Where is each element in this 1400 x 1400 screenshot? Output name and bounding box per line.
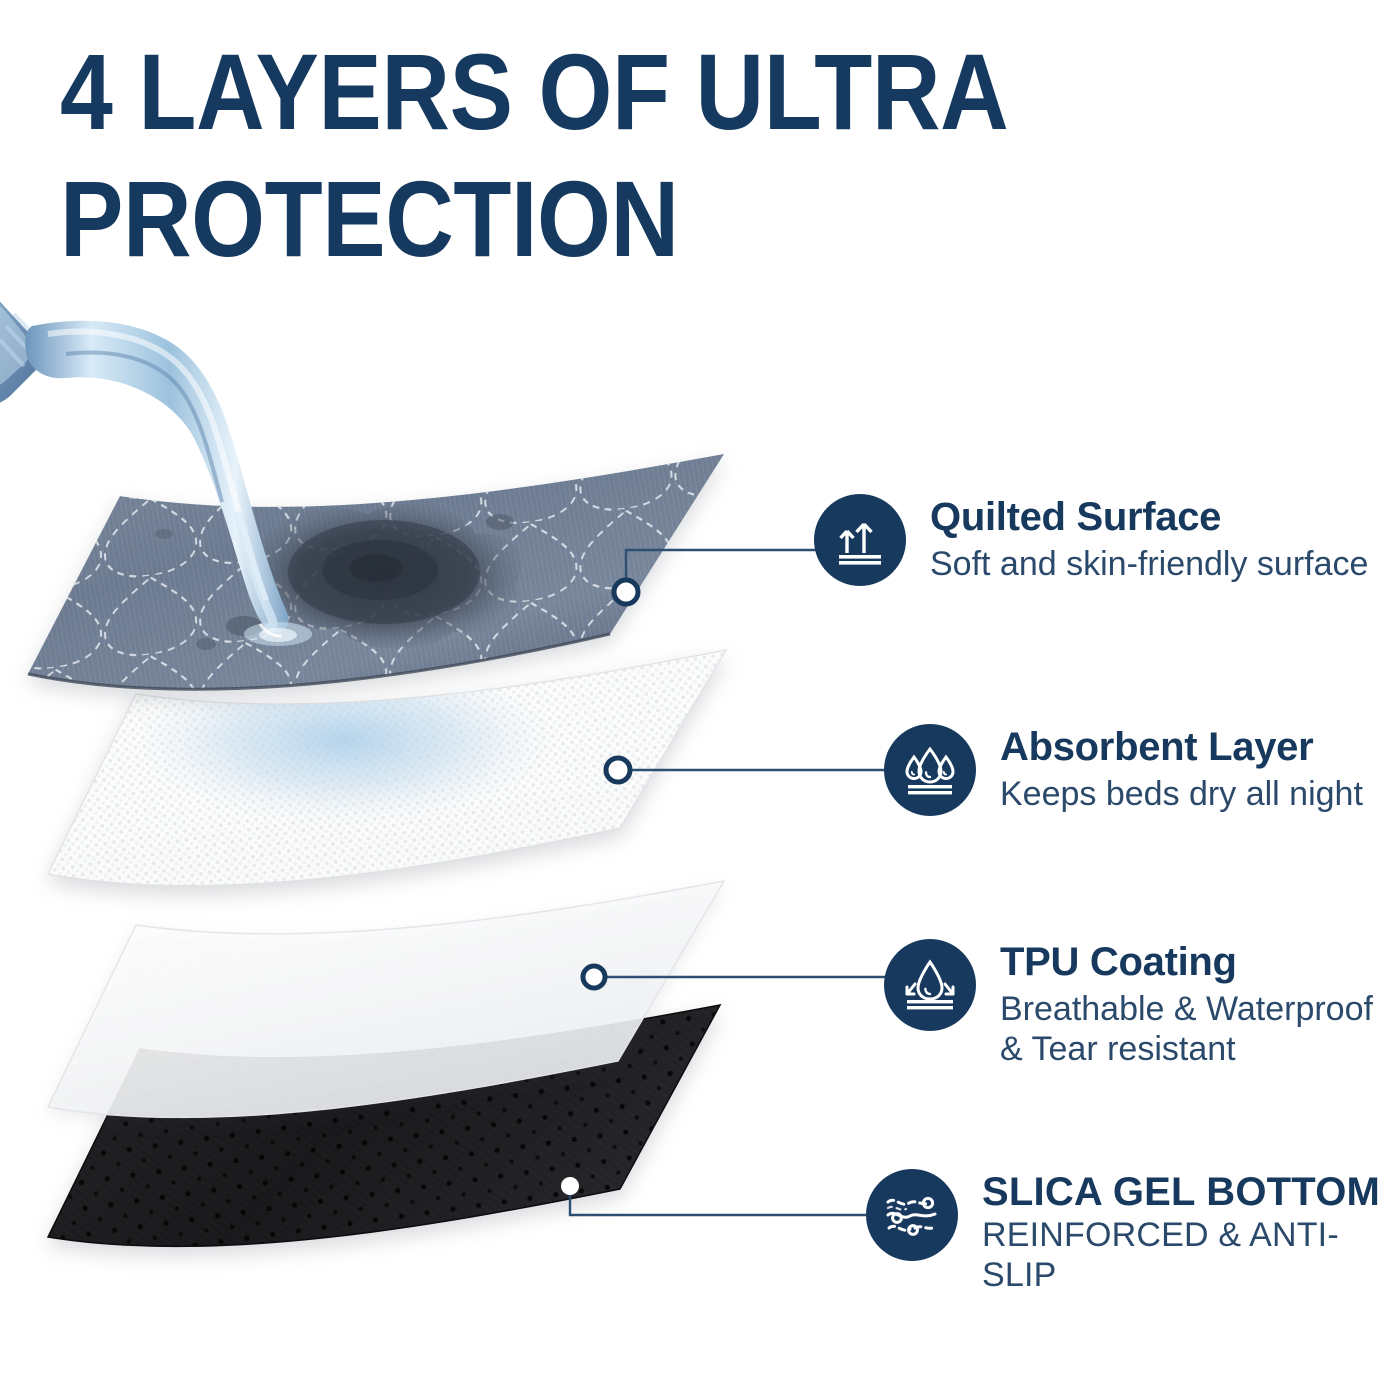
wavy-silicone-lines-icon: [866, 1169, 958, 1261]
feature-subtitle: REINFORCED & ANTI-SLIP: [982, 1215, 1400, 1295]
feature-quilted-surface: Quilted Surface Soft and skin-friendly s…: [814, 494, 1368, 586]
feature-text-block: Quilted Surface Soft and skin-friendly s…: [930, 494, 1368, 584]
feature-absorbent-layer: Absorbent Layer Keeps beds dry all night: [884, 724, 1363, 816]
feature-title: Quilted Surface: [930, 496, 1368, 538]
feature-subtitle: Keeps beds dry all night: [1000, 774, 1363, 814]
droplet-breathable-waterproof-icon: [884, 939, 976, 1031]
feature-text-block: Absorbent Layer Keeps beds dry all night: [1000, 724, 1363, 814]
feature-silica-gel-bottom: SLICA GEL BOTTOM REINFORCED & ANTI-SLIP: [866, 1169, 1400, 1295]
feature-title: SLICA GEL BOTTOM: [982, 1171, 1400, 1213]
feature-title: Absorbent Layer: [1000, 726, 1363, 768]
feature-tpu-coating: TPU Coating Breathable & Waterproof & Te…: [884, 939, 1373, 1069]
feature-text-block: SLICA GEL BOTTOM REINFORCED & ANTI-SLIP: [982, 1169, 1400, 1295]
feature-text-block: TPU Coating Breathable & Waterproof & Te…: [1000, 939, 1373, 1069]
water-bottle-pour: [0, 262, 350, 682]
feature-subtitle: Soft and skin-friendly surface: [930, 544, 1368, 584]
feature-subtitle: Breathable & Waterproof & Tear resistant: [1000, 989, 1373, 1069]
three-droplets-absorb-icon: [884, 724, 976, 816]
arrows-up-breathable-icon: [814, 494, 906, 586]
feature-title: TPU Coating: [1000, 941, 1373, 983]
